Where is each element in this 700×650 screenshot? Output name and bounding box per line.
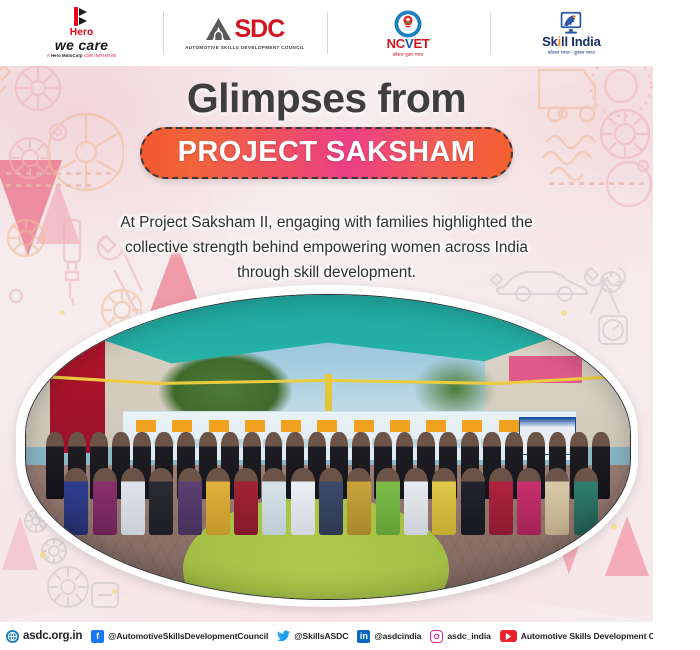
instagram-icon xyxy=(430,630,443,643)
partner-logo-bar: Hero we care A Hero MotoCorp CSR INITIAT… xyxy=(0,0,653,66)
description-line-1: At Project Saksham II, engaging with fam… xyxy=(55,210,598,235)
ncvet-gear-icon xyxy=(393,9,423,39)
skill-india-wordmark: Skill India xyxy=(542,35,601,49)
photo-frame xyxy=(16,285,638,607)
project-saksham-badge-label: PROJECT SAKSHAM xyxy=(178,137,476,167)
page-title: Glimpses from xyxy=(0,76,653,120)
footer-website-label: asdc.org.in xyxy=(23,630,82,642)
hero-tagline: A Hero MotoCorp CSR INITIATIVE xyxy=(47,53,116,59)
footer-facebook-label: @AutomotiveSkillsDevelopmentCouncil xyxy=(108,631,268,641)
headline-block: Glimpses from PROJECT SAKSHAM xyxy=(0,76,653,179)
social-footer: asdc.org.in f @AutomotiveSkillsDevelopme… xyxy=(0,622,653,650)
hero-logo-icon xyxy=(73,7,90,26)
skill-india-tagline: कौशल भारत - कुशल भारत xyxy=(548,50,595,56)
asdc-logo-row: SDC xyxy=(205,17,284,42)
asdc-wordmark: SDC xyxy=(234,17,284,42)
footer-youtube[interactable]: Automotive Skills Development Council xyxy=(500,630,653,642)
hero-tagline-suffix: CSR INITIATIVE xyxy=(83,53,117,58)
description-text: At Project Saksham II, engaging with fam… xyxy=(55,210,598,285)
ncvet-tagline: कौशल युक्त भारत xyxy=(393,52,424,58)
description-line-2: collective strength behind empowering wo… xyxy=(55,235,598,260)
footer-instagram[interactable]: asdc_india xyxy=(430,630,490,643)
logo-ncvet: NCVET कौशल युक्त भारत xyxy=(327,0,490,66)
right-margin xyxy=(653,0,700,650)
group-photo xyxy=(25,294,631,600)
linkedin-icon: in xyxy=(357,630,370,643)
logo-asdc: SDC AUTOMOTIVE SKILLS DEVELOPMENT COUNCI… xyxy=(163,0,326,66)
twitter-icon xyxy=(277,630,290,643)
description-line-3: through skill development. xyxy=(55,260,598,285)
logo-skill-india: Skill India कौशल भारत - कुशल भारत xyxy=(490,0,653,66)
footer-linkedin[interactable]: in @asdcindia xyxy=(357,630,421,643)
footer-website[interactable]: asdc.org.in xyxy=(6,630,82,643)
footer-twitter[interactable]: @SkillsASDC xyxy=(277,630,348,643)
we-care-wordmark: we care xyxy=(55,38,108,53)
poster-canvas: Hero we care A Hero MotoCorp CSR INITIAT… xyxy=(0,0,653,650)
skill-india-word-a: Sk xyxy=(542,34,558,49)
footer-instagram-label: asdc_india xyxy=(447,631,490,641)
photo-vignette xyxy=(26,295,630,599)
footer-youtube-label: Automotive Skills Development Council xyxy=(521,631,653,641)
skill-india-word-b: ll India xyxy=(561,34,601,49)
logo-hero-we-care: Hero we care A Hero MotoCorp CSR INITIAT… xyxy=(0,0,163,66)
asdc-arch-icon xyxy=(205,17,232,41)
footer-linkedin-label: @asdcindia xyxy=(374,631,421,641)
project-badge-wrap: PROJECT SAKSHAM xyxy=(0,127,653,179)
globe-icon xyxy=(6,630,19,643)
asdc-subtitle: AUTOMOTIVE SKILLS DEVELOPMENT COUNCIL xyxy=(185,45,305,50)
project-saksham-badge: PROJECT SAKSHAM xyxy=(140,127,514,179)
footer-twitter-label: @SkillsASDC xyxy=(294,631,348,641)
youtube-icon xyxy=(500,630,517,642)
footer-facebook[interactable]: f @AutomotiveSkillsDevelopmentCouncil xyxy=(91,630,268,643)
facebook-icon: f xyxy=(91,630,104,643)
hero-tagline-brand: Hero MotoCorp xyxy=(51,53,83,58)
skill-india-monitor-icon xyxy=(558,11,584,35)
